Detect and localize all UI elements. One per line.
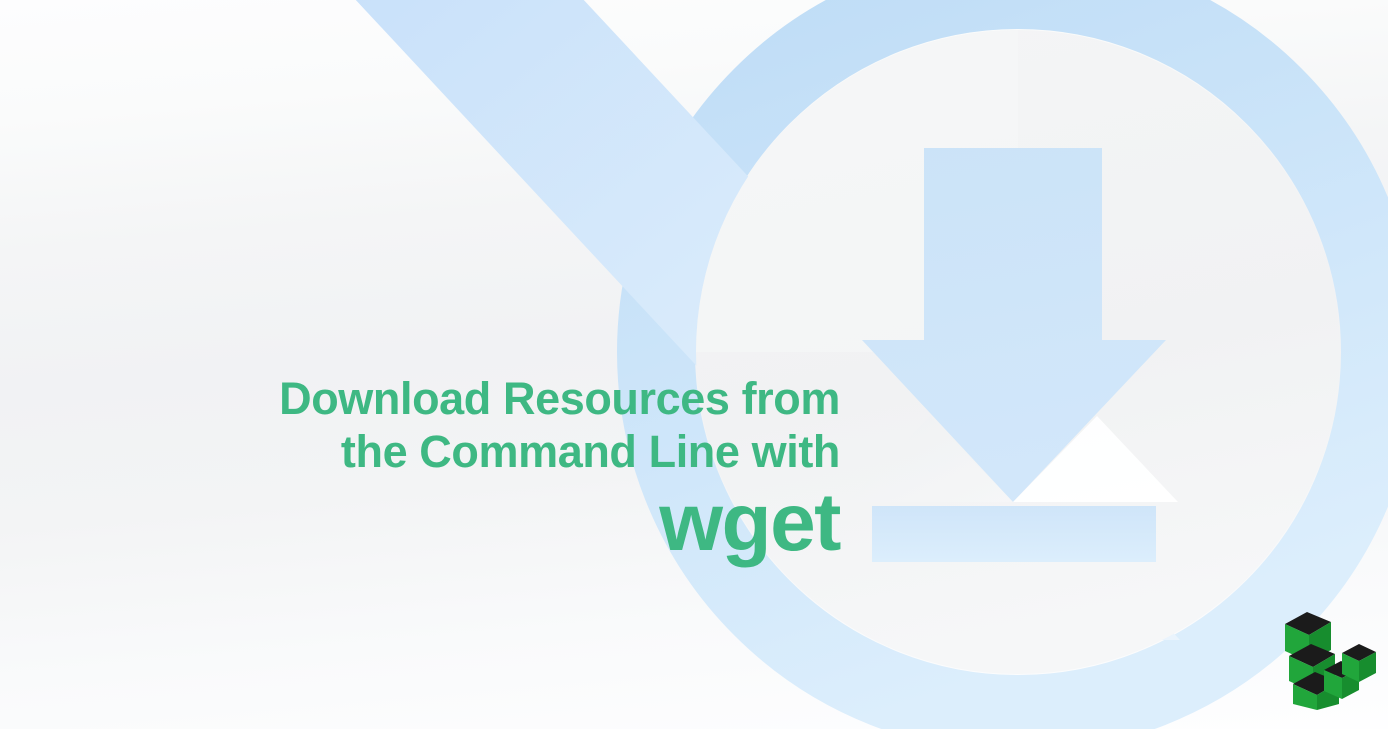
background-artwork: [0, 0, 1388, 729]
title-slide: Download Resources from the Command Line…: [0, 0, 1388, 729]
decorative-ring: [656, 0, 1380, 714]
decorative-inner-disc: [696, 30, 1340, 674]
download-arrow: [862, 148, 1166, 502]
logo-cube-arm-far: [1342, 644, 1376, 682]
slide-headline: Download Resources from the Command Line…: [0, 372, 840, 566]
headline-line-2: the Command Line with: [0, 425, 840, 478]
arrow-tip-shadow: [848, 416, 1013, 502]
headline-line-3-wget: wget: [0, 480, 840, 566]
download-tray-bar: [872, 506, 1156, 562]
arrow-tip-highlight: [1013, 416, 1178, 502]
headline-line-1: Download Resources from: [0, 372, 840, 425]
cube-stack-logo: [1281, 606, 1377, 710]
decorative-disc-shade: [696, 30, 1018, 352]
